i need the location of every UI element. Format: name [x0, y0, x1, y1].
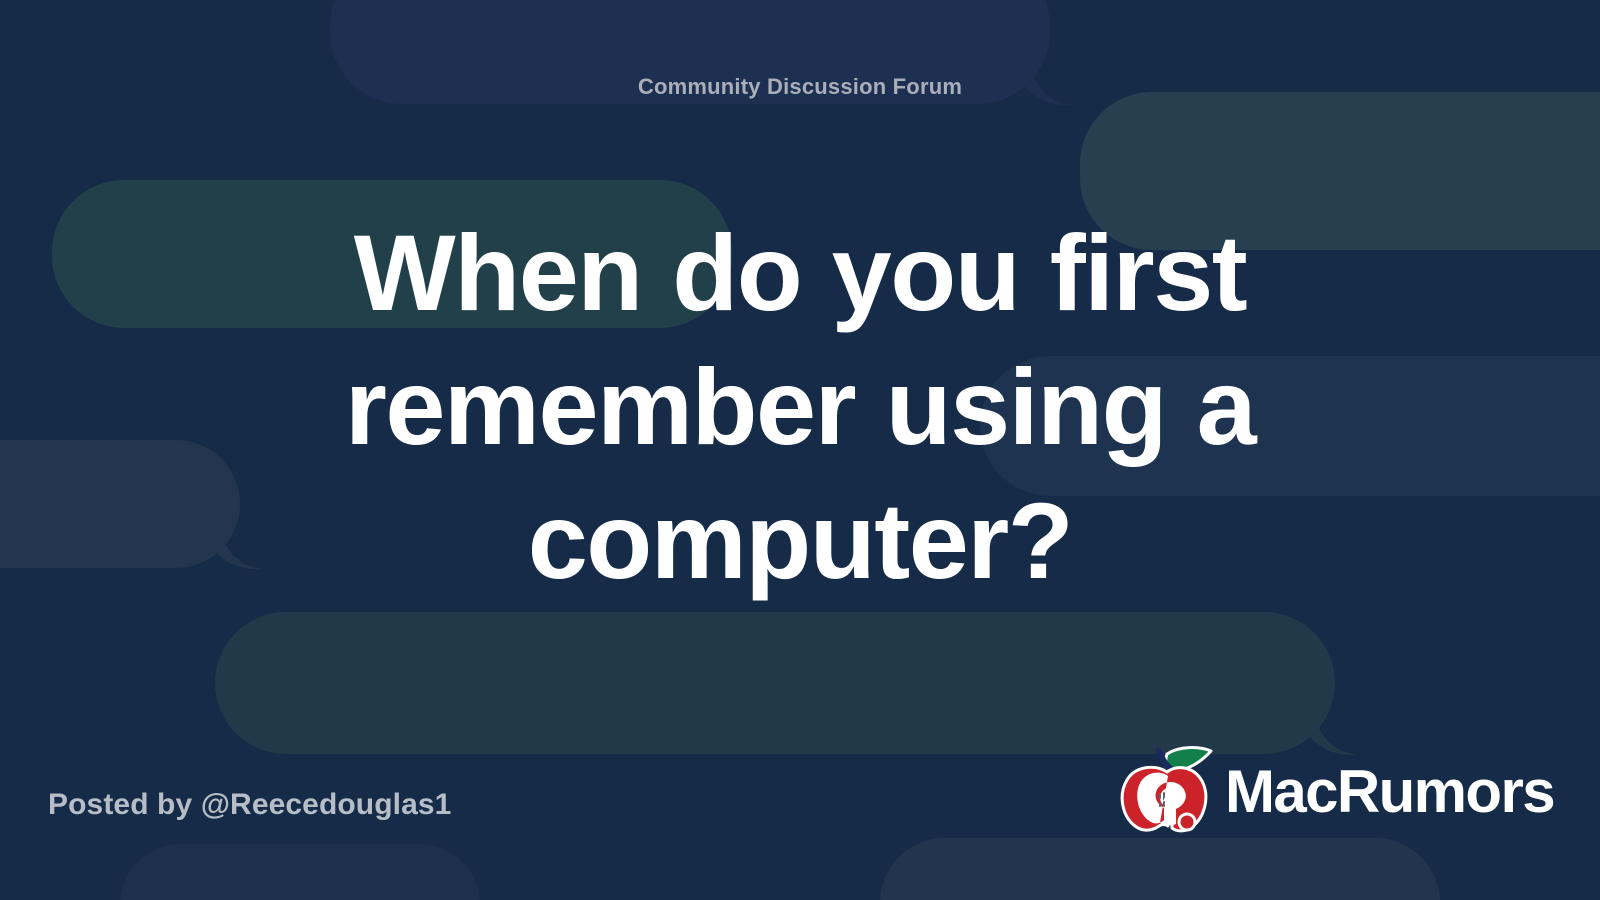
- page-title: When do you first remember using a compu…: [205, 206, 1395, 608]
- macrumors-wordmark: MacRumors: [1225, 762, 1554, 822]
- share-card: Community Discussion Forum When do you f…: [0, 0, 1600, 900]
- macrumors-apple-question-logo-icon: [1115, 746, 1219, 838]
- macrumors-logo[interactable]: MacRumors: [1115, 746, 1554, 838]
- byline-posted-by: Posted by @Reecedouglas1: [48, 788, 451, 822]
- card-content: Community Discussion Forum When do you f…: [0, 0, 1600, 900]
- page-title-container: When do you first remember using a compu…: [205, 206, 1395, 608]
- forum-kicker-label: Community Discussion Forum: [0, 74, 1600, 100]
